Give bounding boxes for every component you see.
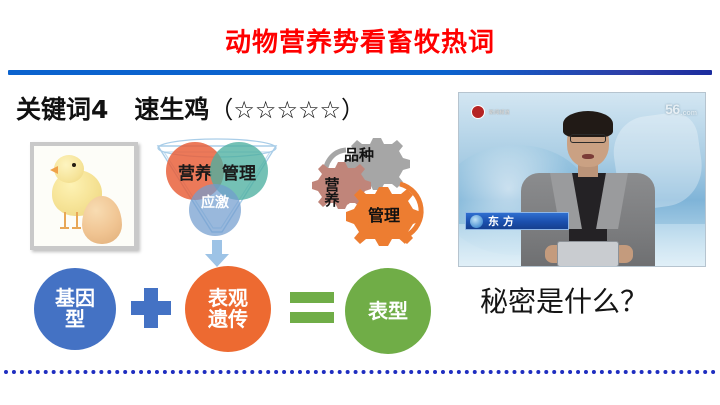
question-text: 秘密是什么？ <box>480 280 648 320</box>
tablet-prop <box>557 241 619 267</box>
equation-epigenetics-circle: 表观遗传 <box>185 266 271 352</box>
egg-shape <box>82 196 122 244</box>
lower-third-banner: 东方 <box>465 212 569 230</box>
chick-photo <box>34 146 134 246</box>
funnel-circle-stress: 应激 <box>189 184 241 236</box>
chick-foot-shape <box>60 227 69 229</box>
slide-canvas: 动物营养势看畜牧热词 关键词4速生鸡（☆☆☆☆☆） 营养 管理 <box>0 0 720 405</box>
globe-icon <box>470 215 483 228</box>
station-logo-icon <box>471 105 485 119</box>
chick-head-shape <box>54 155 84 183</box>
keyword-rating-stars: （☆☆☆☆☆） <box>209 96 365 124</box>
funnel-circle-nutrition-label: 营养 <box>178 159 212 184</box>
chick-eye-shape <box>72 163 76 167</box>
footer-dotted-divider <box>4 370 716 374</box>
anchor-mouth <box>582 154 594 159</box>
chick-leg-shape <box>76 212 78 228</box>
page-title: 动物营养势看畜牧热词 <box>0 22 720 59</box>
keyword-label: 关键词4 <box>16 95 108 124</box>
funnel-diagram: 营养 管理 应激 <box>152 136 282 266</box>
gear-label-breed: 品种 <box>344 148 374 163</box>
glasses-icon <box>570 134 606 143</box>
chick-leg-shape <box>64 212 66 228</box>
chick-beak-shape <box>50 166 58 174</box>
watermark-number: 56 <box>665 101 680 117</box>
equation-phenotype-label: 表型 <box>368 301 408 322</box>
equation-epigenetics-label: 表观遗传 <box>208 288 248 330</box>
funnel-down-arrow-icon <box>204 240 230 268</box>
video-thumbnail[interactable]: 新闻频道 56 .com 东方 <box>458 92 706 267</box>
title-divider <box>8 70 712 75</box>
equation-phenotype-circle: 表型 <box>345 268 431 354</box>
plus-operator-icon <box>131 288 171 328</box>
funnel-circle-stress-label: 应激 <box>201 192 229 212</box>
gear-label-management: 管理 <box>368 208 400 224</box>
gear-label-nutrition: 营养 <box>322 178 342 209</box>
site-watermark: 56 .com <box>665 101 697 117</box>
station-name-label: 新闻频道 <box>489 109 510 116</box>
equation-genotype-circle: 基因型 <box>34 268 116 350</box>
chick-foot-shape <box>72 227 81 229</box>
keyword-term: 速生鸡 <box>134 95 209 124</box>
station-logo: 新闻频道 <box>471 105 510 119</box>
funnel-circle-management-label: 管理 <box>222 159 256 184</box>
gears-diagram: 品种 营养 管理 <box>300 136 450 266</box>
keyword-line: 关键词4速生鸡（☆☆☆☆☆） <box>16 90 365 126</box>
equals-operator-icon <box>290 292 334 324</box>
watermark-domain: .com <box>681 110 697 117</box>
lower-third-label: 东方 <box>488 213 518 229</box>
equation-genotype-label: 基因型 <box>55 288 95 330</box>
chick-photo-frame <box>30 142 138 250</box>
